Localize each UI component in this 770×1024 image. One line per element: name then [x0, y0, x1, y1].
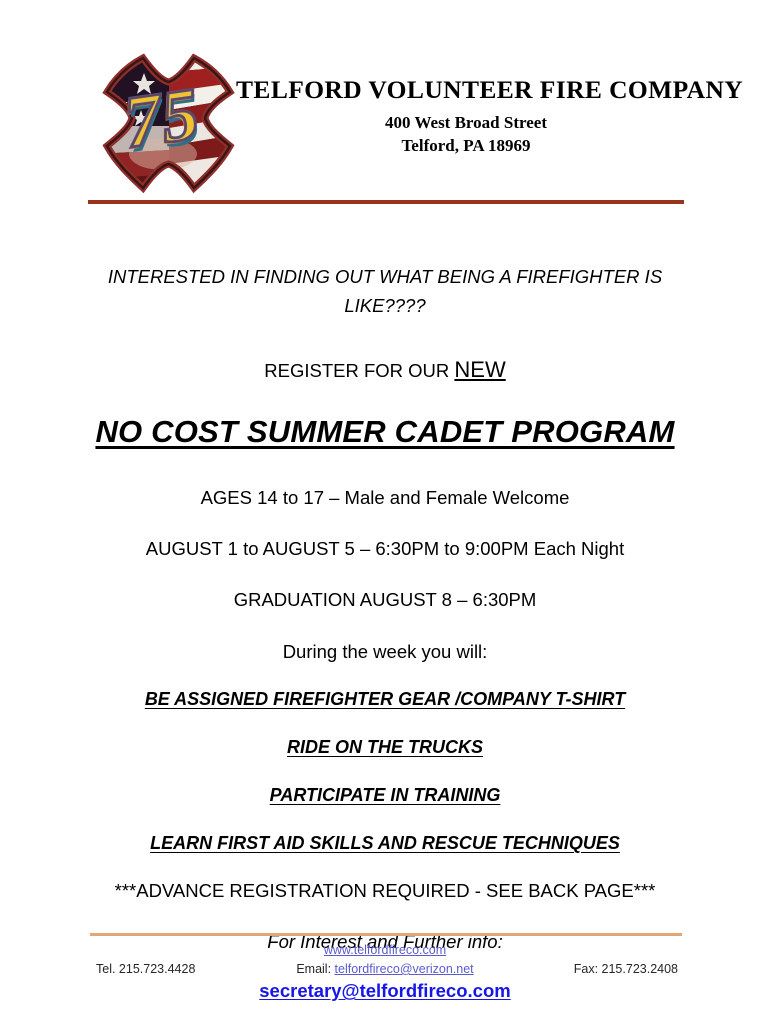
advance-registration-notice: ***ADVANCE REGISTRATION REQUIRED - SEE B…: [0, 879, 770, 903]
activity-training: PARTICIPATE IN TRAINING: [0, 784, 770, 808]
organization-identity: TELFORD VOLUNTEER FIRE COMPANY 400 West …: [236, 76, 696, 158]
footer-divider-rule: [90, 933, 682, 936]
program-headline: NO COST SUMMER CADET PROGRAM: [0, 412, 770, 453]
activity-gear: BE ASSIGNED FIREFIGHTER GEAR /COMPANY T-…: [0, 688, 770, 712]
footer-website: www.telfordfireco.com: [0, 943, 770, 957]
detail-graduation: GRADUATION AUGUST 8 – 6:30PM: [0, 588, 770, 612]
fire-company-logo: 75 75 75 75 75: [97, 50, 240, 198]
register-new-emphasis: NEW: [454, 357, 505, 382]
footer-fax: Fax: 215.723.2408: [574, 962, 678, 976]
intro-question: INTERESTED IN FINDING OUT WHAT BEING A F…: [99, 263, 671, 321]
detail-dates: AUGUST 1 to AUGUST 5 – 6:30PM to 9:00PM …: [0, 537, 770, 561]
website-link[interactable]: www.telfordfireco.com: [324, 943, 446, 957]
maltese-cross-icon: 75 75 75 75 75: [97, 50, 240, 198]
organization-address: 400 West Broad Street Telford, PA 18969: [236, 112, 696, 158]
footer-email-label: Email:: [296, 962, 334, 976]
activity-ride-trucks: RIDE ON THE TRUCKS: [0, 736, 770, 760]
organization-name: TELFORD VOLUNTEER FIRE COMPANY: [236, 76, 696, 104]
svg-text:75: 75: [119, 73, 204, 165]
address-line-2: Telford, PA 18969: [236, 135, 696, 158]
footer-email-link[interactable]: telfordfireco@verizon.net: [335, 962, 474, 976]
footer-contact-row: Tel. 215.723.4428 Email: telfordfireco@v…: [0, 962, 770, 982]
during-week-label: During the week you will:: [0, 640, 770, 664]
flyer-page: 75 75 75 75 75 TELFORD VOLUNTEER FIRE CO…: [0, 0, 770, 1024]
register-line: REGISTER FOR OUR NEW: [0, 355, 770, 384]
flyer-body: INTERESTED IN FINDING OUT WHAT BEING A F…: [0, 208, 770, 1002]
address-line-1: 400 West Broad Street: [236, 112, 696, 135]
letterhead: 75 75 75 75 75 TELFORD VOLUNTEER FIRE CO…: [0, 0, 770, 200]
register-prefix: REGISTER FOR OUR: [264, 360, 454, 381]
activity-first-aid: LEARN FIRST AID SKILLS AND RESCUE TECHNI…: [0, 832, 770, 856]
detail-ages: AGES 14 to 17 – Male and Female Welcome: [0, 486, 770, 510]
header-divider-rule: [88, 200, 684, 204]
footer: www.telfordfireco.com Tel. 215.723.4428 …: [0, 940, 770, 990]
